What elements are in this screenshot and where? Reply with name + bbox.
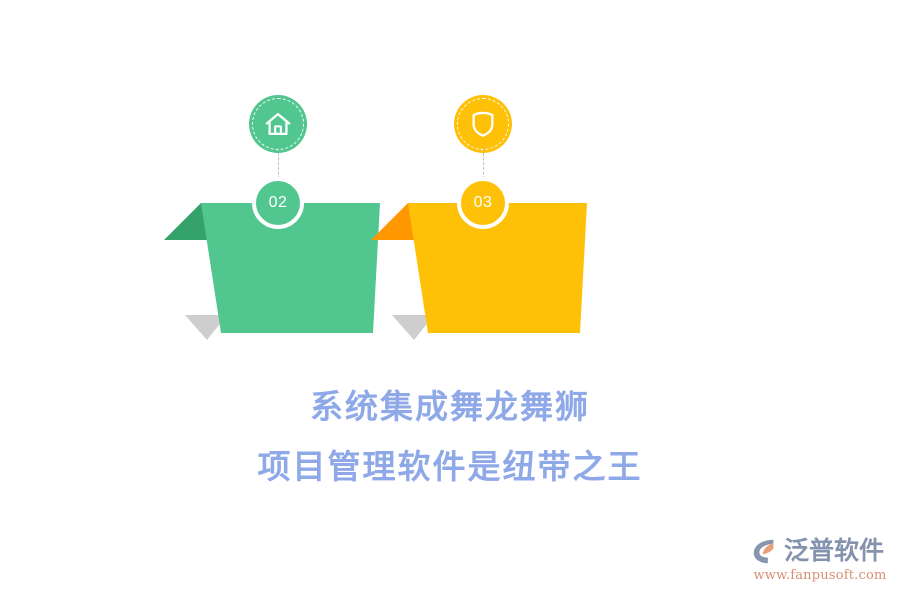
step-number-badge-02[interactable]: 02: [252, 177, 304, 229]
fanpu-logo-icon: [750, 536, 780, 566]
step-number-badge-03[interactable]: 03: [457, 177, 509, 229]
home-icon: [263, 109, 293, 139]
poster-canvas: 02 03 系统集成舞龙舞狮 项目管理软: [0, 0, 900, 600]
amber-card-shape: [352, 0, 652, 360]
headline-line-2: 项目管理软件是纽带之王: [0, 444, 900, 490]
shield-icon: [468, 109, 498, 139]
logo-url: www.fanpusoft.com: [752, 568, 888, 583]
logo-wordmark: 泛普软件: [784, 536, 884, 566]
step-number-label: 02: [269, 194, 288, 212]
step-number-label: 03: [474, 194, 493, 212]
step-infographic: 02 03: [0, 0, 900, 360]
step-medallion-03[interactable]: [454, 95, 512, 153]
step-card-03[interactable]: 03: [352, 0, 652, 360]
headline-line-1: 系统集成舞龙舞狮: [0, 384, 900, 430]
brand-logo[interactable]: 泛普软件 www.fanpusoft.com: [750, 534, 890, 590]
headline-block: 系统集成舞龙舞狮 项目管理软件是纽带之王: [0, 384, 900, 490]
step-medallion-02[interactable]: [249, 95, 307, 153]
logo-row: 泛普软件: [750, 536, 884, 566]
